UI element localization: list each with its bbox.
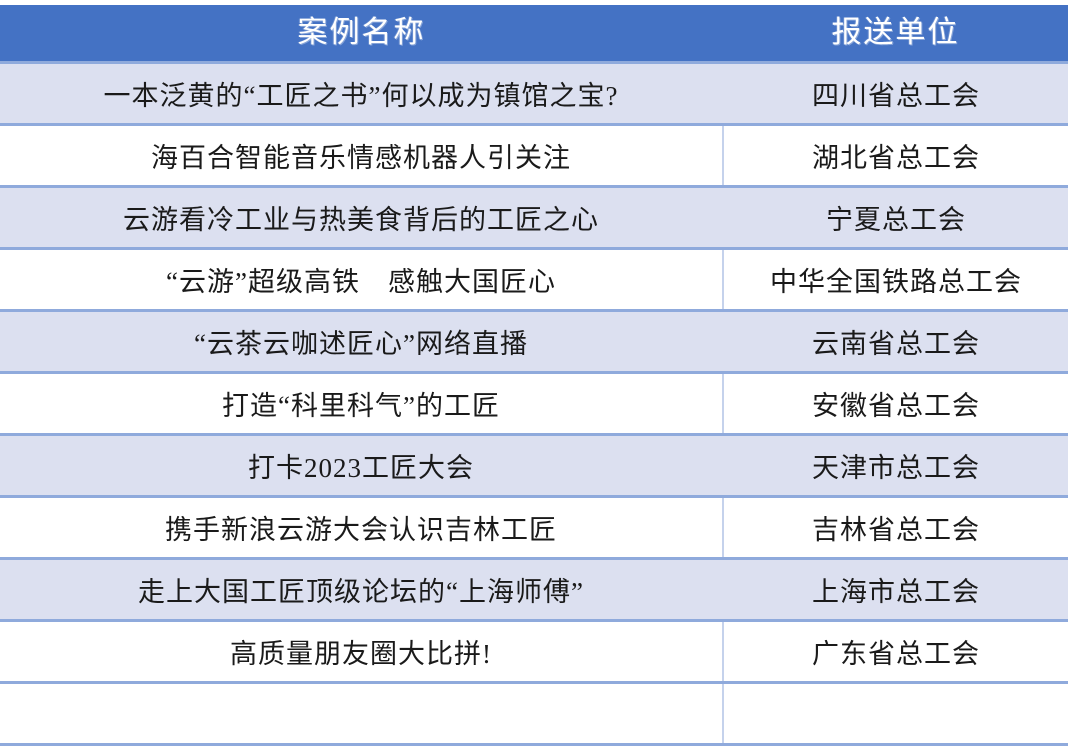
table-row[interactable]: “云游”超级高铁 感触大国匠心 中华全国铁路总工会	[0, 248, 1068, 310]
table-row[interactable]: 携手新浪云游大会认识吉林工匠 吉林省总工会	[0, 496, 1068, 558]
cell-case-name-partial	[0, 682, 723, 744]
table-body: 一本泛黄的“工匠之书”何以成为镇馆之宝? 四川省总工会 海百合智能音乐情感机器人…	[0, 62, 1068, 744]
cell-case-name: 海百合智能音乐情感机器人引关注	[0, 124, 723, 186]
table-row[interactable]: “云茶云咖述匠心”网络直播 云南省总工会	[0, 310, 1068, 372]
table-row[interactable]: 海百合智能音乐情感机器人引关注 湖北省总工会	[0, 124, 1068, 186]
cell-submitting-unit: 广东省总工会	[723, 620, 1068, 682]
table-row[interactable]: 高质量朋友圈大比拼! 广东省总工会	[0, 620, 1068, 682]
cell-submitting-unit: 四川省总工会	[723, 62, 1068, 124]
table-row[interactable]: 打造“科里科气”的工匠 安徽省总工会	[0, 372, 1068, 434]
cell-submitting-unit: 安徽省总工会	[723, 372, 1068, 434]
cell-submitting-unit-partial	[723, 682, 1068, 744]
table-row[interactable]: 打卡2023工匠大会 天津市总工会	[0, 434, 1068, 496]
cell-case-name: 打造“科里科气”的工匠	[0, 372, 723, 434]
cell-submitting-unit: 上海市总工会	[723, 558, 1068, 620]
table-row[interactable]: 云游看冷工业与热美食背后的工匠之心 宁夏总工会	[0, 186, 1068, 248]
column-header-submitting-unit: 报送单位	[723, 5, 1068, 62]
table-row[interactable]: 一本泛黄的“工匠之书”何以成为镇馆之宝? 四川省总工会	[0, 62, 1068, 124]
cell-case-name: “云游”超级高铁 感触大国匠心	[0, 248, 723, 310]
cell-case-name: 走上大国工匠顶级论坛的“上海师傅”	[0, 558, 723, 620]
table-row-partial[interactable]	[0, 682, 1068, 744]
header-row: 案例名称 报送单位	[0, 5, 1068, 62]
cell-case-name: 携手新浪云游大会认识吉林工匠	[0, 496, 723, 558]
cell-submitting-unit: 天津市总工会	[723, 434, 1068, 496]
cell-case-name: 云游看冷工业与热美食背后的工匠之心	[0, 186, 723, 248]
column-header-case-name: 案例名称	[0, 5, 723, 62]
cell-submitting-unit: 吉林省总工会	[723, 496, 1068, 558]
table-row[interactable]: 走上大国工匠顶级论坛的“上海师傅” 上海市总工会	[0, 558, 1068, 620]
cell-case-name: “云茶云咖述匠心”网络直播	[0, 310, 723, 372]
cell-submitting-unit: 云南省总工会	[723, 310, 1068, 372]
cell-submitting-unit: 宁夏总工会	[723, 186, 1068, 248]
table-header: 案例名称 报送单位	[0, 5, 1068, 62]
cell-case-name: 高质量朋友圈大比拼!	[0, 620, 723, 682]
cell-submitting-unit: 中华全国铁路总工会	[723, 248, 1068, 310]
case-list-table: 案例名称 报送单位 一本泛黄的“工匠之书”何以成为镇馆之宝? 四川省总工会 海百…	[0, 5, 1068, 746]
cell-case-name: 打卡2023工匠大会	[0, 434, 723, 496]
cell-case-name: 一本泛黄的“工匠之书”何以成为镇馆之宝?	[0, 62, 723, 124]
cell-submitting-unit: 湖北省总工会	[723, 124, 1068, 186]
case-table-container: 案例名称 报送单位 一本泛黄的“工匠之书”何以成为镇馆之宝? 四川省总工会 海百…	[0, 0, 1068, 690]
